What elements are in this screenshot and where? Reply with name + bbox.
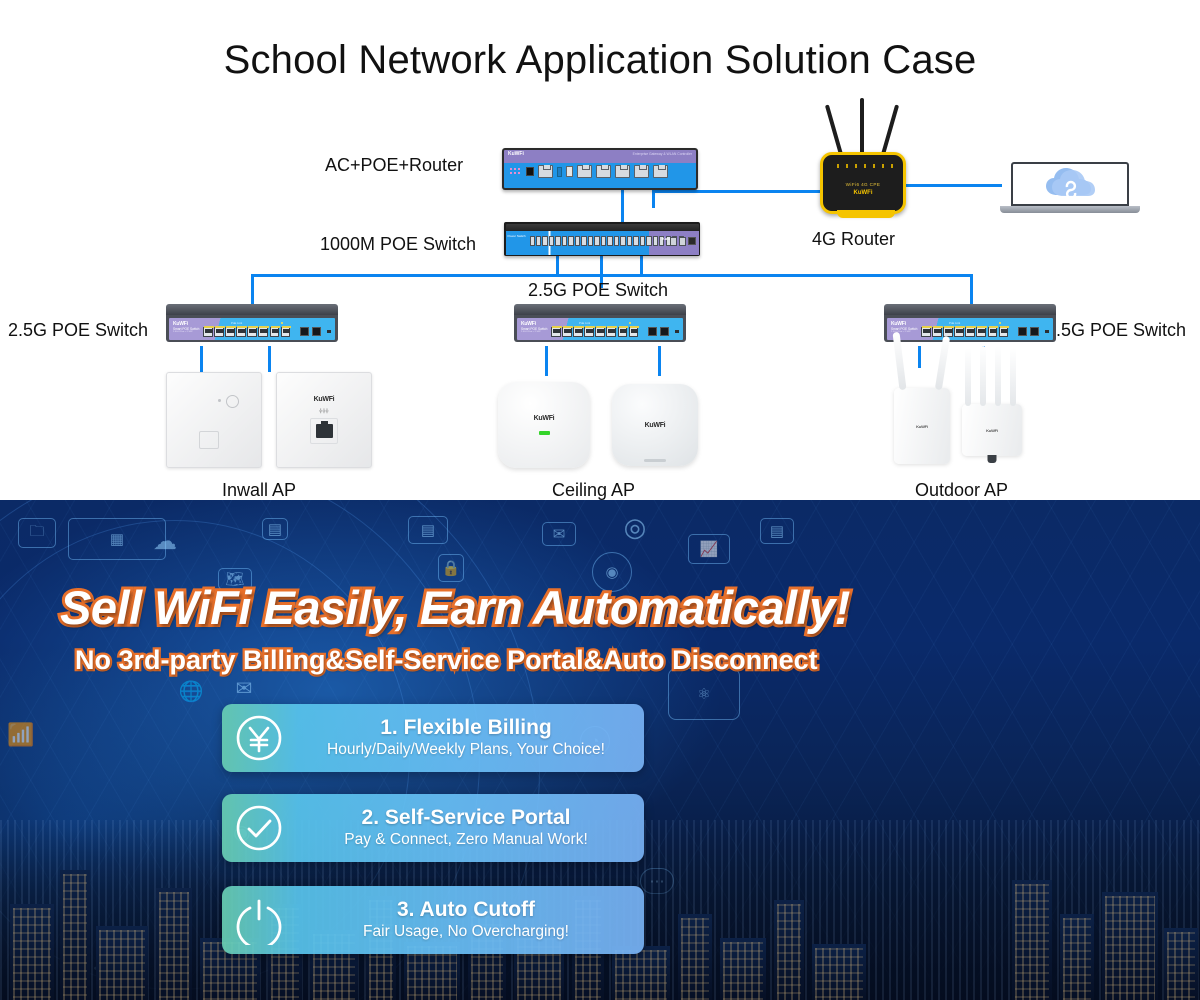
link-1000m-down-left [556, 256, 559, 276]
device-inwall-ap-1 [166, 372, 262, 468]
network-diagram-section: School Network Application Solution Case… [0, 0, 1200, 500]
link-bus-to-switch-right [970, 274, 973, 306]
outdoor-ap2-antenna-4-icon [1010, 348, 1016, 406]
cloud-icon: ☁ [148, 528, 182, 554]
fingerprint-icon: ◎ [618, 510, 652, 544]
page-title: School Network Application Solution Case [0, 38, 1200, 83]
switch24-power-label: Power Switch [508, 235, 526, 239]
link-switch-left-to-ap1 [200, 346, 203, 372]
laptop-screen [1011, 162, 1129, 206]
switch-left-subtitle: 2.5G 8 Port + 2 SFP [173, 331, 193, 333]
feature-2-subtitle: Pay & Connect, Zero Manual Work! [296, 830, 636, 850]
outdoor-ap1-brand-label: KuWFi [916, 424, 928, 429]
feature-3-subtitle: Fair Usage, No Overcharging! [296, 922, 636, 942]
link-1000m-down-right [640, 256, 643, 276]
link-bus-to-switch-left [251, 274, 254, 306]
label-switch-center: 2.5G POE Switch [528, 280, 668, 301]
check-circle-icon [222, 803, 296, 853]
mail-icon: ✉ [542, 522, 576, 546]
switch24-port-bank [530, 236, 684, 246]
switch-center-title: Smart POE Switch [521, 327, 547, 331]
switch-center-status-led [629, 322, 632, 325]
outdoor-ap2-brand-label: KuWFi [986, 428, 998, 433]
globe-icon: 🌐 [178, 678, 204, 704]
switch-left-port-bank [203, 327, 290, 337]
feature-1-text: 1. Flexible Billing Hourly/Daily/Weekly … [296, 716, 644, 760]
envelope-icon: ✉ [228, 676, 260, 700]
switch-center-poe-badge: PoE Link [579, 321, 590, 325]
wifi-icon: 📶 [4, 722, 38, 748]
feature-card-2[interactable]: 2. Self-Service Portal Pay & Connect, Ze… [222, 794, 644, 862]
usb-port-icon [566, 166, 573, 177]
feature-1-subtitle: Hourly/Daily/Weekly Plans, Your Choice! [296, 740, 636, 760]
switch-center-sfp-bank [648, 327, 669, 336]
outdoor-ap2-antenna-2-icon [980, 346, 986, 406]
device-inwall-ap-2: KuWFi ╬╬╬ [276, 372, 372, 468]
switch-left-status-led [281, 322, 284, 325]
link-switch-center-to-ap2 [658, 346, 661, 376]
device-1000m-poe-switch: Power Switch KuWFi [504, 222, 700, 256]
folder-icon: 🗀 [18, 518, 56, 548]
power-icon [222, 895, 296, 945]
device-4g-router: WiFi6 4G CPE KuWFi [820, 152, 906, 214]
cloud-infinity-icon [1043, 165, 1097, 203]
device-outdoor-ap-1: KuWFi [894, 388, 950, 464]
link-4g-to-laptop [904, 184, 1002, 187]
ceiling-ap1-status-led [539, 431, 550, 435]
building-4 [156, 888, 192, 1000]
lan-port-4-icon [653, 165, 668, 178]
gateway-brand-label: KuWFi [508, 151, 524, 157]
feature-2-title: 2. Self-Service Portal [296, 806, 636, 830]
feature-3-title: 3. Auto Cutoff [296, 898, 636, 922]
lan-port-3-icon [634, 165, 649, 178]
distribution-bus [251, 274, 973, 277]
router4g-stand [837, 210, 895, 218]
slide-root: School Network Application Solution Case… [0, 0, 1200, 1000]
ceiling-ap1-brand-label: KuWFi [534, 415, 555, 422]
feature-card-1[interactable]: 1. Flexible Billing Hourly/Daily/Weekly … [222, 704, 644, 772]
ceiling-ap2-brand-label: KuWFi [645, 422, 666, 429]
feature-card-3[interactable]: 3. Auto Cutoff Fair Usage, No Overchargi… [222, 886, 644, 954]
switch-right-poe-badge: PoE Link [949, 321, 960, 325]
outdoor-ap2-antenna-1-icon [965, 348, 971, 406]
outdoor-ap2-antenna-3-icon [995, 346, 1001, 406]
yen-circle-icon [222, 713, 296, 763]
device-ceiling-ap-2: KuWFi [612, 384, 698, 466]
label-1000m-switch: 1000M POE Switch [320, 234, 476, 255]
banner-subheadline: No 3rd-party Billing&Self-Service Portal… [75, 645, 875, 676]
device-25g-switch-right: KuWFi Smart POE Switch 2.5G 8 Port + 2 S… [884, 304, 1056, 342]
building-19 [1060, 914, 1094, 1000]
antenna-left-icon [825, 104, 843, 155]
console-port-icon [538, 165, 553, 178]
link-gateway-to-1000m [621, 190, 624, 225]
building-20 [1102, 892, 1158, 1000]
antenna-right-icon [881, 104, 899, 155]
switch-left-poe-badge: PoE Link [231, 321, 242, 325]
feature-3-text: 3. Auto Cutoff Fair Usage, No Overchargi… [296, 898, 644, 942]
gateway-model-label: Enterprise Gateway & WLAN Controller [633, 152, 692, 156]
switch-left-sfp-bank [300, 327, 321, 336]
lan-port-2-icon [615, 165, 630, 178]
building-16 [774, 900, 804, 1000]
link-switch-left-to-ap2 [268, 346, 271, 372]
device-ceiling-ap-1: KuWFi [498, 382, 590, 468]
router4g-model-label: WiFi6 4G CPE [823, 182, 903, 187]
switch-left-title: Smart POE Switch [173, 327, 199, 331]
router4g-brand-label: KuWFi [823, 190, 903, 196]
switch-right-sfp-bank [1018, 327, 1039, 336]
link-gateway-to-4g-h [652, 190, 824, 193]
label-switch-left: 2.5G POE Switch [8, 320, 148, 341]
label-outdoor-ap: Outdoor AP [915, 480, 1008, 501]
building-15 [720, 938, 766, 1000]
server-icon: ▤ [262, 518, 288, 540]
router4g-led-row-icon [837, 164, 893, 168]
building-3 [96, 926, 148, 1000]
antenna-center-icon [860, 98, 864, 156]
feature-2-text: 2. Self-Service Portal Pay & Connect, Ze… [296, 806, 644, 850]
promo-banner-section: 🗀 ▦ ☁ ▤ 🗺 ▤ ✉ 🔒 ◎ ◉ 📈 ▤ ⚛ 🌐 ✉ 📶 ◔ ◉ ⋯ ❋ [0, 500, 1200, 1000]
banner-headline: Sell WiFi Easily, Earn Automatically! [60, 580, 860, 635]
wan-port-icon [577, 165, 592, 178]
gateway-port-bank [512, 165, 668, 178]
link-switch-center-to-ap1 [545, 346, 548, 376]
switch-right-title: Smart POE Switch [891, 327, 917, 331]
device-25g-switch-center: KuWFi Smart POE Switch 2.5G 8 Port + 2 S… [514, 304, 686, 342]
lan-port-1-icon [596, 165, 611, 178]
switch-left-power-port [327, 330, 331, 333]
label-switch-right: 2.5G POE Switch [1046, 320, 1186, 341]
label-ceiling-ap: Ceiling AP [552, 480, 635, 501]
database-icon: ▤ [760, 518, 794, 544]
laptop-base [1000, 206, 1140, 213]
switch-center-subtitle: 2.5G 8 Port + 2 SFP [521, 331, 541, 333]
power-jack-icon [526, 167, 534, 176]
building-13 [612, 946, 670, 1000]
building-17 [812, 944, 866, 1000]
inwall-ap-brand-label: KuWFi [314, 396, 335, 403]
building-21 [1164, 928, 1198, 1000]
feature-1-title: 1. Flexible Billing [296, 716, 636, 740]
device-25g-switch-left: KuWFi Smart POE Switch 2.5G 8 Port + 2 S… [166, 304, 338, 342]
building-14 [678, 914, 712, 1000]
switch-right-power-port [1045, 330, 1049, 333]
switch24-uplink-bank [670, 237, 696, 246]
building-2 [60, 870, 90, 1000]
device-laptop [1000, 162, 1140, 218]
device-ac-poe-router: KuWFi Enterprise Gateway & WLAN Controll… [502, 148, 698, 190]
switch-center-power-port [675, 330, 679, 333]
switch-right-port-bank [921, 327, 1008, 337]
led-bar-icon [557, 167, 562, 177]
label-4g-router: 4G Router [812, 229, 895, 250]
building-18 [1012, 880, 1052, 1000]
switch-right-status-led [999, 322, 1002, 325]
label-ac-poe-router: AC+POE+Router [325, 155, 463, 176]
link-switch-right-to-ap1 [918, 346, 921, 368]
link-1000m-down-mid [600, 256, 603, 276]
document-stack-icon: ▤ [408, 516, 448, 544]
building-1 [10, 904, 54, 1000]
lock-icon: 🔒 [438, 554, 464, 582]
switch-center-port-bank [551, 327, 638, 337]
chart-icon: 📈 [688, 534, 730, 564]
outdoor-ap1-antenna-right-icon [935, 336, 950, 390]
label-inwall-ap: Inwall AP [222, 480, 296, 501]
device-outdoor-ap-2: KuWFi [962, 404, 1022, 456]
